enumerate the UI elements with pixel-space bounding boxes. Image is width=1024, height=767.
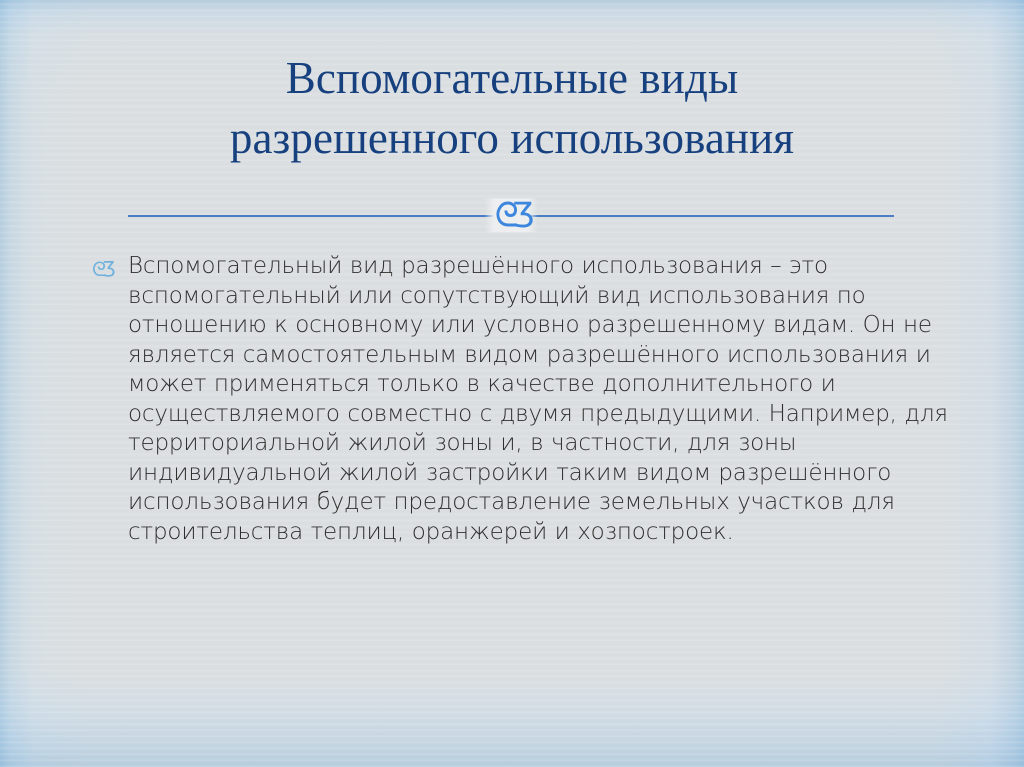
page-title-line-1: Вспомогательные виды [96,48,928,108]
page-title-line-2: разрешенного использования [96,108,928,168]
cb-flourish-ornament-icon: ᘓƷ [485,198,538,232]
body-paragraph: Вспомогательный вид разрешённого использ… [128,252,964,547]
presentation-slide: Вспомогательные виды разрешенного исполь… [0,0,1024,767]
page-title: Вспомогательные виды разрешенного исполь… [96,48,928,168]
body-list-item: ᘓƷ Вспомогательный вид разрешённого испо… [92,252,964,547]
cb-flourish-bullet-icon: ᘓƷ [92,252,128,284]
title-divider: ᘓƷ [128,204,894,228]
